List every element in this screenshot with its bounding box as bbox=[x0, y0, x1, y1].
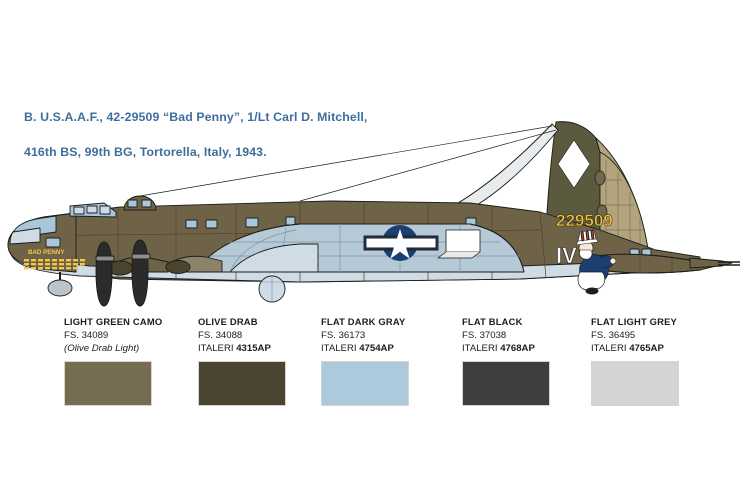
swatch-name: FLAT LIGHT GREY bbox=[591, 316, 716, 328]
swatch-fs-code: FS. 34089 bbox=[64, 329, 189, 342]
swatch-brand: ITALERI bbox=[321, 343, 357, 354]
swatch-brand-code: ITALERI 4315AP bbox=[198, 342, 323, 355]
swatch-name: LIGHT GREEN CAMO bbox=[64, 316, 189, 328]
nose-wheel bbox=[48, 272, 72, 296]
swatch-brand-code: ITALERI 4754AP bbox=[321, 342, 446, 355]
swatch-brand-code: ITALERI 4765AP bbox=[591, 342, 716, 355]
swatch-name: FLAT BLACK bbox=[462, 316, 587, 328]
tail-serial-number: 229509 bbox=[556, 211, 613, 230]
fuselage-code-letters: IV bbox=[556, 243, 577, 268]
swatch-name: OLIVE DRAB bbox=[198, 316, 323, 328]
swatch-olive-drab: OLIVE DRAB FS. 34088 ITALERI 4315AP bbox=[198, 316, 323, 406]
paint-color-legend: LIGHT GREEN CAMO FS. 34089 (Olive Drab L… bbox=[0, 316, 750, 426]
swatch-flat-black: FLAT BLACK FS. 37038 ITALERI 4768AP bbox=[462, 316, 587, 406]
swatch-fs-code: FS. 36495 bbox=[591, 329, 716, 342]
paint-scheme-sheet: B. U.S.A.A.F., 42-29509 “Bad Penny”, 1/L… bbox=[0, 0, 750, 500]
ball-turret bbox=[259, 276, 285, 302]
swatch-flat-light-grey: FLAT LIGHT GREY FS. 36495 ITALERI 4765AP bbox=[591, 316, 716, 406]
swatch-color-chip bbox=[462, 361, 550, 406]
swatch-paint-code: 4315AP bbox=[236, 343, 271, 354]
swatch-fs-code: FS. 34088 bbox=[198, 329, 323, 342]
swatch-color-chip bbox=[321, 361, 409, 406]
swatch-color-chip bbox=[591, 361, 679, 406]
swatch-brand: ITALERI bbox=[462, 343, 498, 354]
swatch-brand-code: ITALERI 4768AP bbox=[462, 342, 587, 355]
swatch-paint-code: 4754AP bbox=[359, 343, 394, 354]
swatch-fs-code: FS. 37038 bbox=[462, 329, 587, 342]
swatch-color-chip bbox=[64, 361, 152, 406]
swatch-color-chip bbox=[198, 361, 286, 406]
swatch-alt-name: (Olive Drab Light) bbox=[64, 342, 189, 355]
swatch-brand: ITALERI bbox=[591, 343, 627, 354]
swatch-paint-code: 4765AP bbox=[629, 343, 664, 354]
swatch-paint-code: 4768AP bbox=[500, 343, 535, 354]
swatch-name: FLAT DARK GRAY bbox=[321, 316, 446, 328]
swatch-flat-dark-gray: FLAT DARK GRAY FS. 36173 ITALERI 4754AP bbox=[321, 316, 446, 406]
tail-gunner-position bbox=[690, 258, 740, 268]
nose-art-text: BAD PENNY bbox=[28, 249, 65, 256]
aircraft-profile-illustration: BAD PENNY bbox=[0, 60, 750, 310]
mission-bomb-markings bbox=[24, 259, 85, 269]
swatch-light-green-camo: LIGHT GREEN CAMO FS. 34089 (Olive Drab L… bbox=[64, 316, 189, 406]
swatch-brand: ITALERI bbox=[198, 343, 234, 354]
swatch-fs-code: FS. 36173 bbox=[321, 329, 446, 342]
